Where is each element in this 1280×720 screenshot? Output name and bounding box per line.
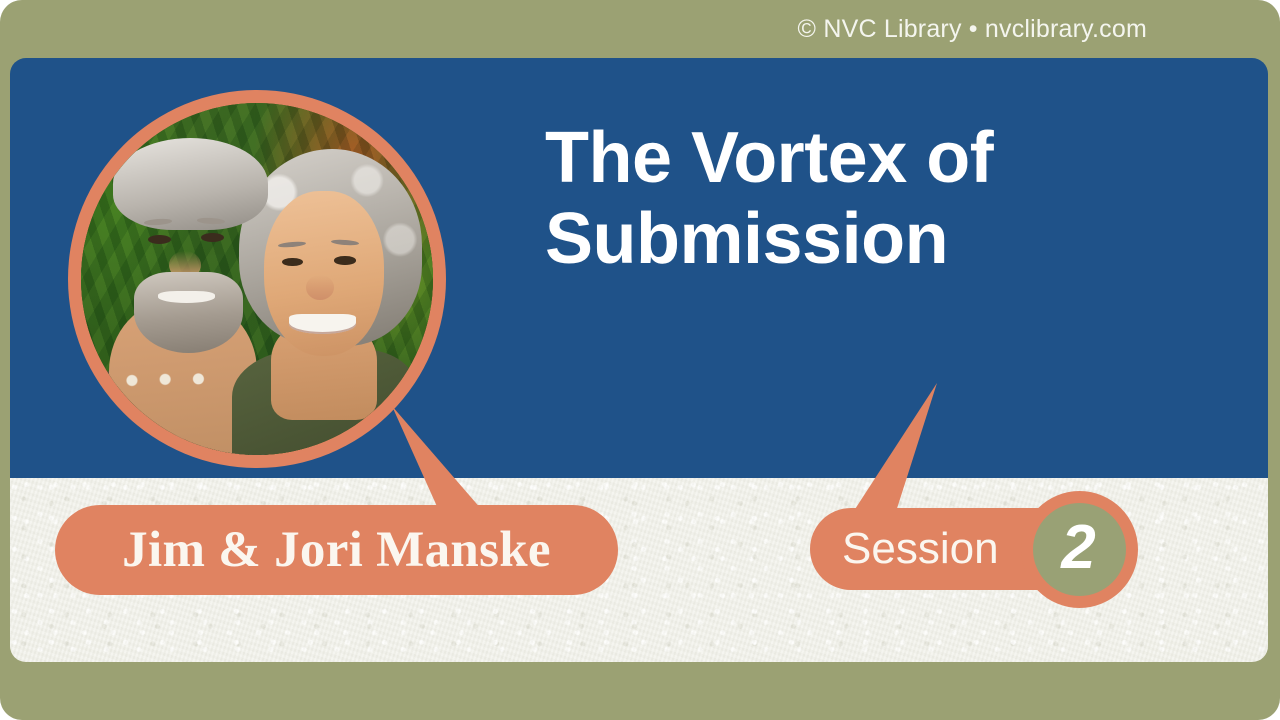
- presenters-pill: Jim & Jori Manske: [55, 505, 618, 595]
- presenter-photo: [81, 103, 433, 455]
- copyright-bar: © NVC Library • nvclibrary.com: [0, 0, 1280, 58]
- man-eye-left: [148, 235, 171, 244]
- presentation-slide: © NVC Library • nvclibrary.com: [0, 0, 1280, 720]
- session-number: 2: [1061, 517, 1095, 579]
- title-block: The Vortex of Submission: [545, 118, 1185, 279]
- session-number-badge: 2: [1021, 491, 1138, 608]
- woman-smile: [289, 314, 356, 333]
- presenters-name: Jim & Jori Manske: [122, 521, 551, 579]
- copyright-text: © NVC Library • nvclibrary.com: [798, 15, 1147, 44]
- slide-title: The Vortex of Submission: [545, 118, 1185, 279]
- portrait-frame: [68, 90, 446, 468]
- woman-eye-right: [334, 256, 355, 264]
- session-badge-inner-circle: 2: [1033, 503, 1126, 596]
- session-label: Session: [842, 524, 999, 574]
- man-beard: [134, 272, 243, 353]
